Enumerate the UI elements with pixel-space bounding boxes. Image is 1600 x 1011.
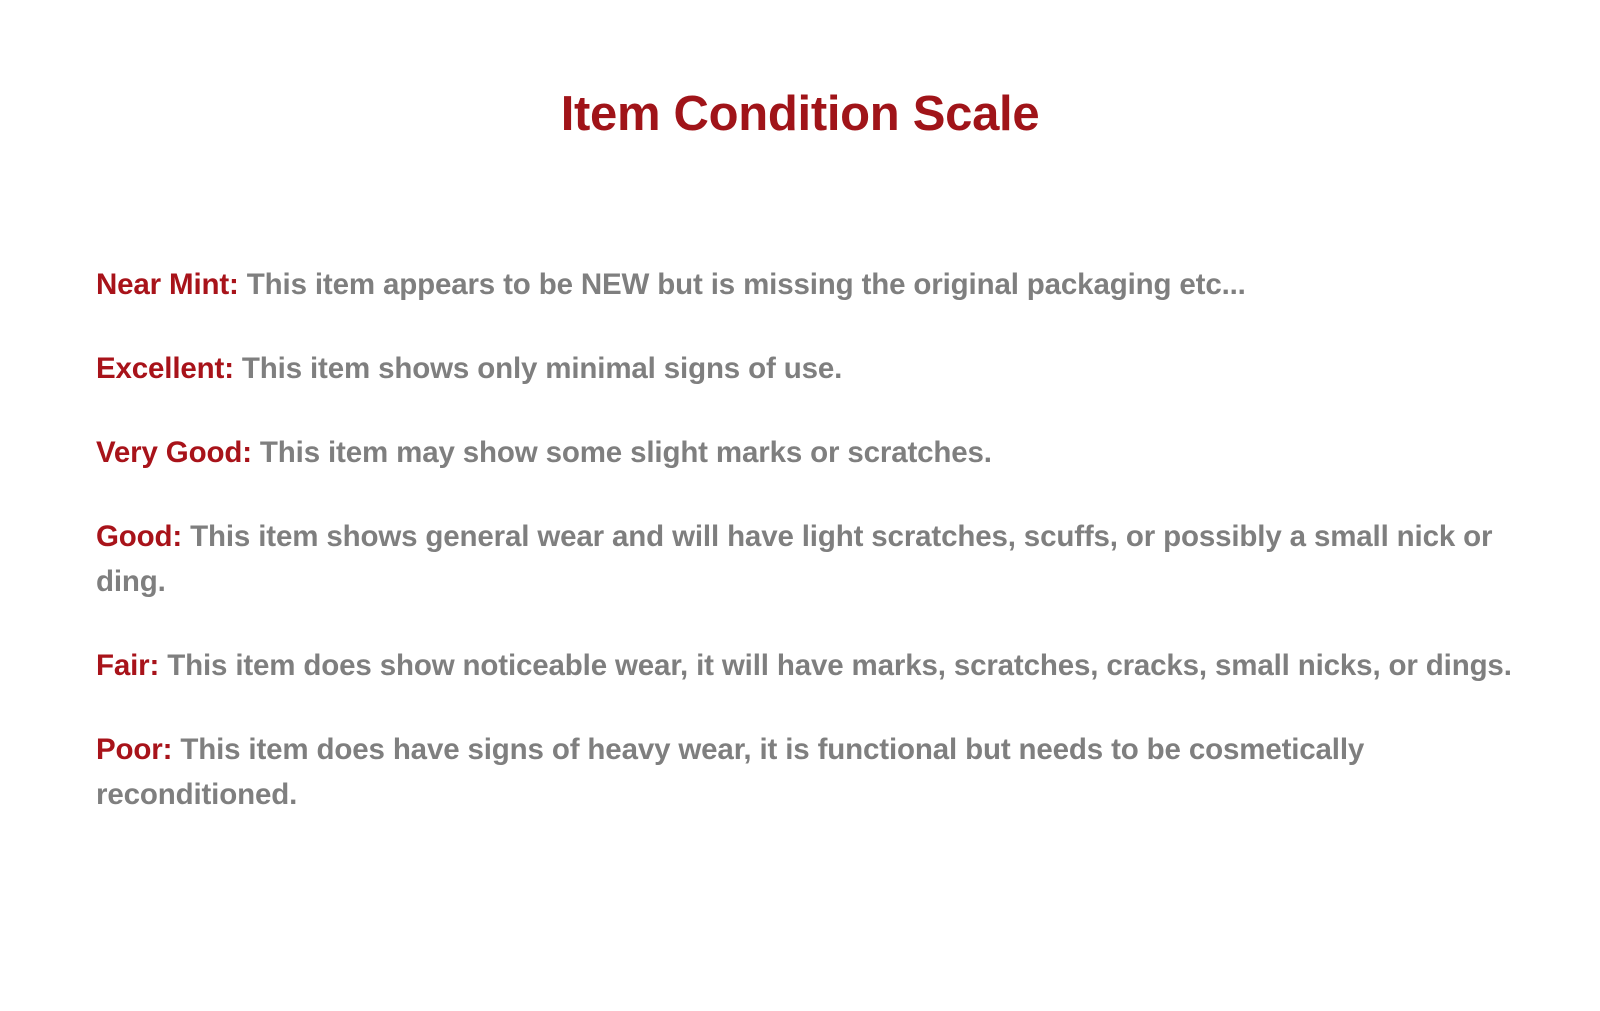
condition-entry-good: Good: This item shows general wear and w… (96, 514, 1516, 604)
condition-description-very-good: This item may show some slight marks or … (260, 436, 992, 469)
condition-label-good: Good: (96, 520, 182, 553)
condition-description-excellent: This item shows only minimal signs of us… (242, 352, 842, 385)
condition-description-near-mint: This item appears to be NEW but is missi… (247, 268, 1246, 301)
condition-description-fair: This item does show noticeable wear, it … (167, 649, 1512, 682)
condition-description-good: This item shows general wear and will ha… (96, 520, 1492, 598)
condition-entry-fair: Fair: This item does show noticeable wea… (96, 643, 1516, 688)
condition-entry-excellent: Excellent: This item shows only minimal … (96, 346, 1516, 391)
condition-label-very-good: Very Good: (96, 436, 252, 469)
condition-description-poor: This item does have signs of heavy wear,… (96, 733, 1364, 811)
page-title: Item Condition Scale (0, 88, 1600, 142)
condition-label-fair: Fair: (96, 649, 159, 682)
condition-entry-near-mint: Near Mint: This item appears to be NEW b… (96, 262, 1516, 307)
condition-scale-slide: Item Condition Scale Near Mint: This ite… (0, 0, 1600, 1011)
condition-entry-poor: Poor: This item does have signs of heavy… (96, 727, 1516, 817)
condition-label-near-mint: Near Mint: (96, 268, 239, 301)
condition-label-excellent: Excellent: (96, 352, 234, 385)
condition-label-poor: Poor: (96, 733, 172, 766)
condition-list: Near Mint: This item appears to be NEW b… (96, 232, 1516, 817)
condition-entry-very-good: Very Good: This item may show some sligh… (96, 430, 1516, 475)
